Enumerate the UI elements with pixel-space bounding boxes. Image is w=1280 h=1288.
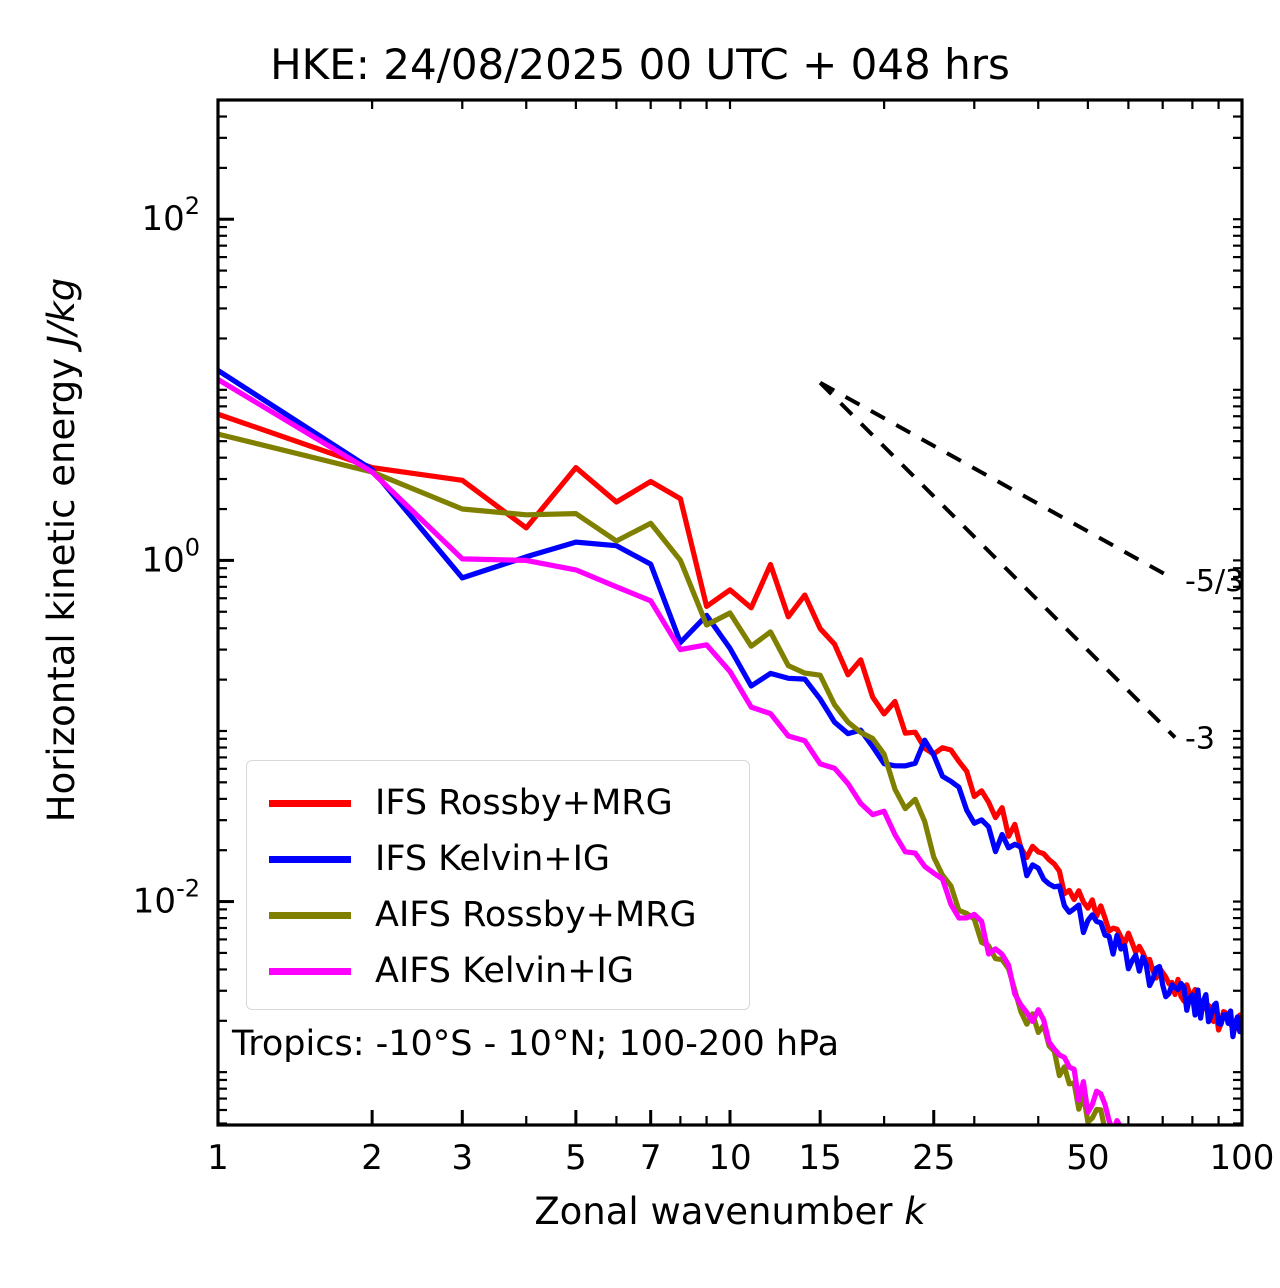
- x-tick-label: 15: [799, 1138, 842, 1178]
- legend-label-aifs-kelvin-ig: AIFS Kelvin+IG: [375, 951, 634, 991]
- legend-item-ifs-rossby-mrg: IFS Rossby+MRG: [247, 775, 749, 831]
- x-tick-label: 50: [1066, 1138, 1109, 1178]
- legend-item-aifs-kelvin-ig: AIFS Kelvin+IG: [247, 943, 749, 999]
- y-tick-label: 10-2: [133, 875, 200, 922]
- x-tick-label: 7: [640, 1138, 662, 1178]
- legend-item-ifs-kelvin-ig: IFS Kelvin+IG: [247, 831, 749, 887]
- legend-swatch-ifs-rossby-mrg: [269, 800, 351, 807]
- x-tick-label: 10: [708, 1138, 751, 1178]
- x-tick-label: 3: [451, 1138, 473, 1178]
- x-tick-label: 1: [207, 1138, 229, 1178]
- legend-swatch-aifs-kelvin-ig: [269, 968, 351, 975]
- legend-label-ifs-rossby-mrg: IFS Rossby+MRG: [375, 783, 673, 823]
- legend-swatch-aifs-rossby-mrg: [269, 912, 351, 919]
- legend-item-aifs-rossby-mrg: AIFS Rossby+MRG: [247, 887, 749, 943]
- slope-label: -5/3: [1185, 564, 1244, 599]
- chart-figure: HKE: 24/08/2025 00 UTC + 048 hrs 1235710…: [0, 0, 1280, 1288]
- x-axis-label-text: Zonal wavenumber: [534, 1190, 904, 1233]
- legend-swatch-ifs-kelvin-ig: [269, 856, 351, 863]
- x-tick-label: 2: [361, 1138, 383, 1178]
- x-tick-label: 100: [1210, 1138, 1275, 1178]
- slope-label: -3: [1185, 721, 1215, 756]
- x-axis-label-symbol: k: [904, 1190, 925, 1233]
- y-axis-label: Horizontal kinetic energy J/kg: [32, 200, 92, 900]
- x-axis-label: Zonal wavenumber k: [218, 1190, 1242, 1233]
- chart-legend: IFS Rossby+MRG IFS Kelvin+IG AIFS Rossby…: [246, 760, 750, 1010]
- y-tick-label: 102: [141, 192, 200, 239]
- x-tick-label: 5: [565, 1138, 587, 1178]
- plot-canvas: 123571015255010010210010-2 -5/3-3: [0, 0, 1280, 1288]
- y-axis-label-text: Horizontal kinetic energy: [40, 346, 83, 822]
- y-tick-label: 100: [141, 533, 200, 580]
- region-annotation: Tropics: -10°S - 10°N; 100-200 hPa: [232, 1024, 839, 1064]
- legend-label-aifs-rossby-mrg: AIFS Rossby+MRG: [375, 895, 697, 935]
- y-axis-label-unit: J/kg: [40, 278, 83, 346]
- x-tick-label: 25: [912, 1138, 955, 1178]
- legend-label-ifs-kelvin-ig: IFS Kelvin+IG: [375, 839, 610, 879]
